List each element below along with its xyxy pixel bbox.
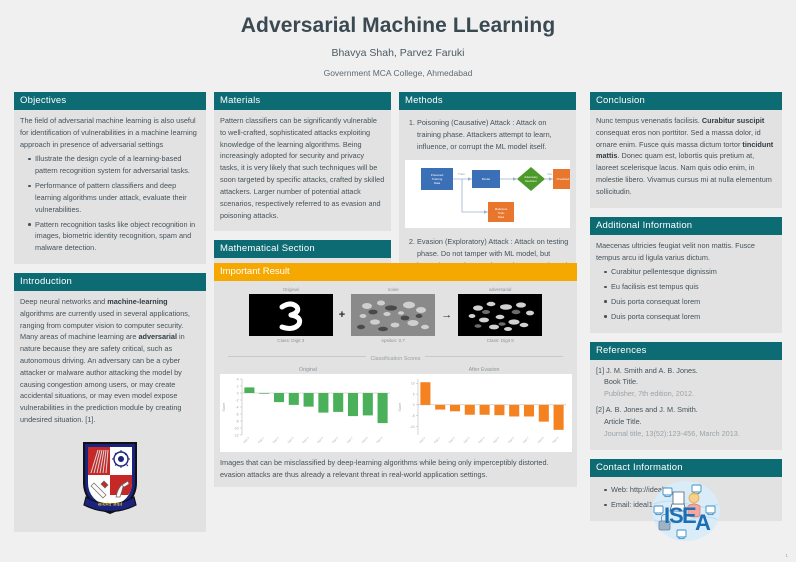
- svg-text:Predicted: Predicted: [557, 177, 570, 181]
- column-left: Objectives The field of adversarial mach…: [14, 92, 206, 541]
- result-caption: Images that can be misclassified by deep…: [218, 452, 573, 481]
- svg-text:-10: -10: [234, 426, 239, 430]
- section-heading-objectives: Objectives: [14, 92, 206, 110]
- adversarial-digit-image: [458, 294, 542, 336]
- section-introduction: Introduction Deep neural networks and ma…: [14, 273, 206, 532]
- svg-text:0: 0: [237, 391, 239, 395]
- svg-text:Decision: Decision: [525, 179, 537, 183]
- page-title: Adversarial Machine LLearning: [0, 14, 796, 38]
- section-heading-additional: Additional Information: [590, 217, 782, 235]
- conclusion-text: Nunc tempus venenatis facilisis. Curabit…: [596, 115, 776, 198]
- svg-text:Score: Score: [398, 402, 402, 411]
- methods-list: Poisoning (Causative) Attack : Attack on…: [405, 117, 570, 152]
- section-heading-materials: Materials: [214, 92, 391, 110]
- introduction-text: Deep neural networks and machine-learnin…: [20, 296, 200, 426]
- original-digit-image: [249, 294, 333, 336]
- after-evasion-scores-barchart: 1050-5-10ScoreDigit 0Digit 1Digit 2Digit…: [396, 374, 572, 452]
- list-item: Duis porta consequat lorem: [605, 311, 776, 323]
- list-item: Curabitur pellentesque dignissim: [605, 266, 776, 278]
- intro-part-e: in nature because they are safety critic…: [20, 332, 185, 424]
- reference-entry: [1] J. M. Smith and A. B. Jones. Book Ti…: [596, 365, 776, 400]
- list-item: Pattern recognition tasks like object re…: [29, 219, 200, 254]
- original-digit-cell: Original Class: Digit 3: [249, 287, 333, 343]
- chart-after-evasion: After Evasion 1050-5-10ScoreDigit 0Digit…: [396, 367, 572, 452]
- noise-image: [351, 294, 435, 336]
- additional-intro: Maecenas ultricies feugiat velit non mat…: [596, 240, 776, 264]
- list-item: Poisoning (Causative) Attack : Attack on…: [417, 117, 570, 152]
- objectives-intro: The field of adversarial machine learnin…: [20, 115, 200, 150]
- list-item: Duis porta consequat lorem: [605, 296, 776, 308]
- conclusion-part-a: Nunc tempus venenatis facilisis.: [596, 116, 702, 125]
- noise-caption: epsilon: 0.7: [351, 338, 435, 343]
- svg-text:A: A: [695, 510, 711, 535]
- svg-text:4: 4: [237, 377, 239, 381]
- affiliation: Government MCA College, Ahmedabad: [0, 68, 796, 78]
- reference-entry: [2] A. B. Jones and J. M. Smith. Article…: [596, 404, 776, 439]
- svg-text:Yes: Yes: [547, 172, 552, 176]
- svg-text:-5: -5: [412, 414, 415, 418]
- reference-title: Article Title.: [596, 416, 776, 428]
- svg-text:-4: -4: [236, 405, 239, 409]
- classification-scores-label: Classification Scores: [366, 356, 424, 362]
- intro-emph-ml: machine-learning: [107, 297, 167, 306]
- section-heading-references: References: [590, 342, 782, 360]
- conclusion-emph-1: Curabitur suscipit: [702, 116, 764, 125]
- svg-text:Data: Data: [498, 215, 505, 219]
- original-label: Original: [249, 287, 333, 292]
- section-conclusion: Conclusion Nunc tempus venenatis facilis…: [590, 92, 782, 208]
- isea-logo: I S E A: [650, 480, 722, 546]
- poisoning-attack-flow-diagram: PoisonedTrainingData Model AdversaryDeci…: [405, 160, 570, 228]
- original-scores-barchart: 420-2-4-6-8-10-12ScoreDigit 0Digit 1Digi…: [220, 374, 396, 452]
- objectives-bullets: Illustrate the design cycle of a learnin…: [20, 153, 200, 254]
- svg-text:-6: -6: [236, 412, 239, 416]
- conclusion-part-e: . Donec quam est, lobortis quis pretium …: [596, 151, 772, 195]
- intro-emph-adversarial: adversarial: [138, 332, 177, 341]
- svg-text:2: 2: [237, 384, 239, 388]
- chart-original: Original 420-2-4-6-8-10-12ScoreDigit 0Di…: [220, 367, 396, 452]
- list-item: Illustrate the design cycle of a learnin…: [29, 153, 200, 177]
- svg-text:-2: -2: [236, 398, 239, 402]
- section-additional-information: Additional Information Maecenas ultricie…: [590, 217, 782, 333]
- poster-canvas: Adversarial Machine LLearning Bhavya Sha…: [0, 0, 796, 562]
- noise-label: noise: [351, 287, 435, 292]
- adversarial-example-row: Original Class: Digit 3 + noise: [218, 285, 573, 343]
- score-charts: Original 420-2-4-6-8-10-12ScoreDigit 0Di…: [218, 366, 573, 452]
- university-crest: सत्यमेव जयते: [78, 439, 142, 517]
- conclusion-part-c: consequat eros non porttitor. Sed a mass…: [596, 128, 761, 149]
- svg-text:Model: Model: [482, 177, 491, 181]
- svg-text:0: 0: [413, 403, 415, 407]
- svg-text:5: 5: [413, 392, 415, 396]
- section-materials: Materials Pattern classifiers can be sig…: [214, 92, 391, 231]
- chart-title-after-evasion: After Evasion: [396, 367, 572, 373]
- section-heading-methods: Methods: [399, 92, 576, 110]
- adversarial-label: adversarial: [458, 287, 542, 292]
- section-references: References [1] J. M. Smith and A. B. Jon…: [590, 342, 782, 451]
- author-list: Bhavya Shah, Parvez Faruki: [0, 47, 796, 59]
- reference-title: Book Title.: [596, 376, 776, 388]
- chart-title-original: Original: [220, 367, 396, 373]
- adversarial-caption: Class: Digit 8: [458, 338, 542, 343]
- svg-text:10: 10: [411, 382, 415, 386]
- reference-source: Publisher, 7th edition, 2012.: [596, 388, 776, 400]
- reference-source: Journal title, 13(52):123-456, March 201…: [596, 428, 776, 440]
- section-heading-important-result: Important Result: [214, 263, 577, 281]
- list-item: Performance of pattern classifiers and d…: [29, 180, 200, 215]
- column-right: Conclusion Nunc tempus venenatis facilis…: [590, 92, 782, 530]
- svg-text:Train: Train: [458, 172, 465, 176]
- poster-header: Adversarial Machine LLearning Bhavya Sha…: [0, 0, 796, 78]
- arrow-right-icon: →: [440, 309, 453, 321]
- section-heading-introduction: Introduction: [14, 273, 206, 291]
- svg-text:-10: -10: [410, 425, 415, 429]
- svg-text:-8: -8: [236, 419, 239, 423]
- noise-cell: noise: [351, 287, 435, 343]
- section-heading-conclusion: Conclusion: [590, 92, 782, 110]
- svg-text:Score: Score: [222, 402, 226, 411]
- materials-text: Pattern classifiers can be significantly…: [220, 115, 385, 221]
- plus-icon: +: [338, 309, 346, 321]
- svg-text:सत्यमेव जयते: सत्यमेव जयते: [98, 501, 122, 508]
- section-important-result: Important Result Original Class: Digit 3…: [214, 263, 577, 487]
- classification-scores-divider: Classification Scores: [228, 347, 563, 365]
- section-heading-contact: Contact Information: [590, 459, 782, 477]
- page-number: 1: [785, 553, 788, 558]
- reference-authors: [1] J. M. Smith and A. B. Jones.: [596, 366, 698, 375]
- svg-text:-12: -12: [234, 433, 239, 437]
- reference-authors: [2] A. B. Jones and J. M. Smith.: [596, 405, 698, 414]
- section-heading-mathematical: Mathematical Section: [214, 240, 391, 258]
- adversarial-digit-cell: adversarial: [458, 287, 542, 343]
- original-caption: Class: Digit 3: [249, 338, 333, 343]
- university-crest-wrap: सत्यमेव जयते: [20, 429, 200, 525]
- list-item: Eu facilisis est tempus quis: [605, 281, 776, 293]
- intro-part-a: Deep neural networks and: [20, 297, 107, 306]
- additional-bullets: Curabitur pellentesque dignissim Eu faci…: [596, 266, 776, 322]
- svg-text:Data: Data: [434, 181, 441, 185]
- section-objectives: Objectives The field of adversarial mach…: [14, 92, 206, 264]
